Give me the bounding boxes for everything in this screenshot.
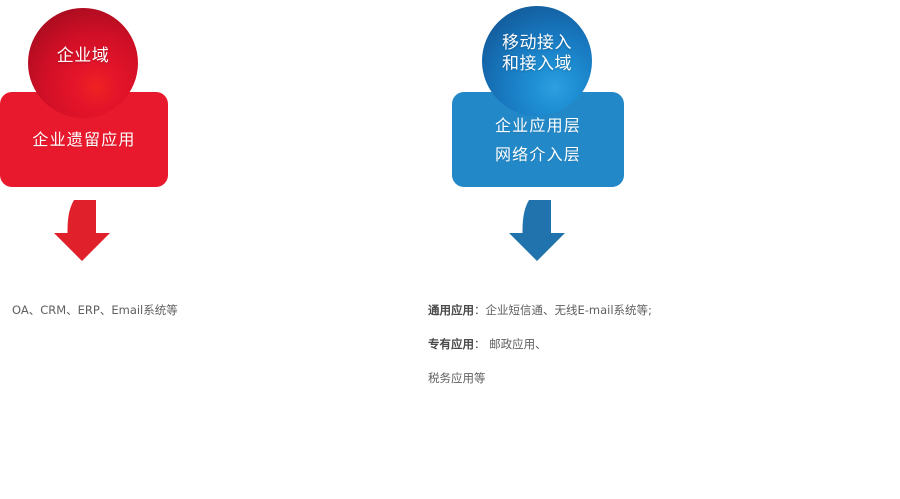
column-user-domain: 用户层 用户域 终端用户,包括企业客户、 供应链合作伙伴、企业员工 [710,0,900,404]
caption-enterprise: OA、CRM、ERP、Email系统等 [12,285,212,336]
caption-line-rest: ： 邮政应用、 [474,337,547,351]
caption-line: 税务应用等 [428,370,678,387]
caption-line: OA、CRM、ERP、Email系统等 [12,302,212,319]
column-mobile-access-domain: 企业应用层 网络介入层 移动接入 和接入域 通用应用：企业短信通、无线E-mai… [210,0,460,404]
caption-line: 专有应用： 邮政应用、 [428,336,678,353]
caption-line: 通用应用：企业短信通、无线E-mail系统等; [428,302,678,319]
architecture-diagram: 企业遗留应用 企业域 OA、CRM、ERP、Email系统等 企业应用层 网络介… [0,0,900,404]
caption-line-emphasis: 专有应用 [428,337,474,351]
domain-sphere-mobile-access[interactable]: 移动接入 和接入域 [482,6,592,116]
domain-sphere-enterprise[interactable]: 企业域 [28,8,138,118]
layer-box-label-mobile-access: 企业应用层 网络介入层 [495,111,581,169]
domain-sphere-label-mobile-access: 移动接入 和接入域 [502,33,572,89]
layer-box-label-enterprise: 企业遗留应用 [32,125,135,154]
caption-line-rest: ：企业短信通、无线E-mail系统等; [474,303,652,317]
column-enterprise-domain: 企业遗留应用 企业域 OA、CRM、ERP、Email系统等 [0,0,210,404]
domain-sphere-label-enterprise: 企业域 [57,46,110,81]
caption-mobile-access: 通用应用：企业短信通、无线E-mail系统等; 专有应用： 邮政应用、 税务应用… [428,285,678,404]
caption-line-emphasis: 通用应用 [428,303,474,317]
down-arrow-icon-enterprise [52,200,112,262]
down-arrow-icon-mobile-access [507,200,567,262]
